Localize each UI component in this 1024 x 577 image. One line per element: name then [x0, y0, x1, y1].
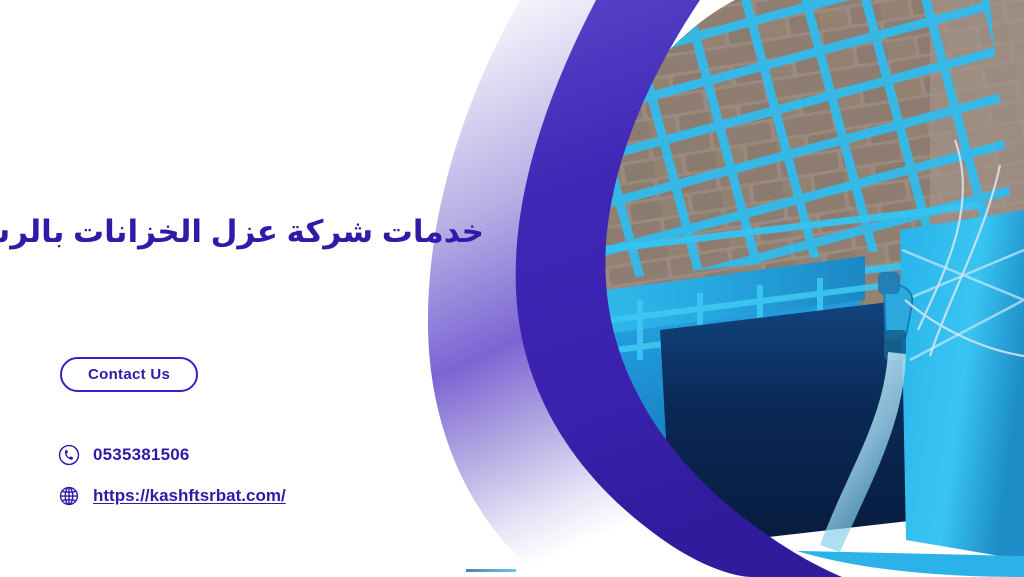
content-column: خدمات شركة عزل الخزانات بالرس Contact Us…	[0, 0, 500, 577]
contact-info-list: 0535381506 https://kashftsrbat.com/	[58, 438, 286, 513]
phone-row[interactable]: 0535381506	[58, 438, 286, 472]
contact-us-button[interactable]: Contact Us	[60, 357, 198, 392]
page-title: خدمات شركة عزل الخزانات بالرس	[14, 213, 484, 252]
bottom-line-artifact	[466, 569, 516, 572]
promo-banner: خدمات شركة عزل الخزانات بالرس Contact Us…	[0, 0, 1024, 577]
phone-circle-icon	[58, 444, 80, 466]
website-url[interactable]: https://kashftsrbat.com/	[93, 486, 286, 506]
phone-number: 0535381506	[93, 445, 190, 465]
globe-icon	[58, 485, 80, 507]
website-row[interactable]: https://kashftsrbat.com/	[58, 479, 286, 513]
